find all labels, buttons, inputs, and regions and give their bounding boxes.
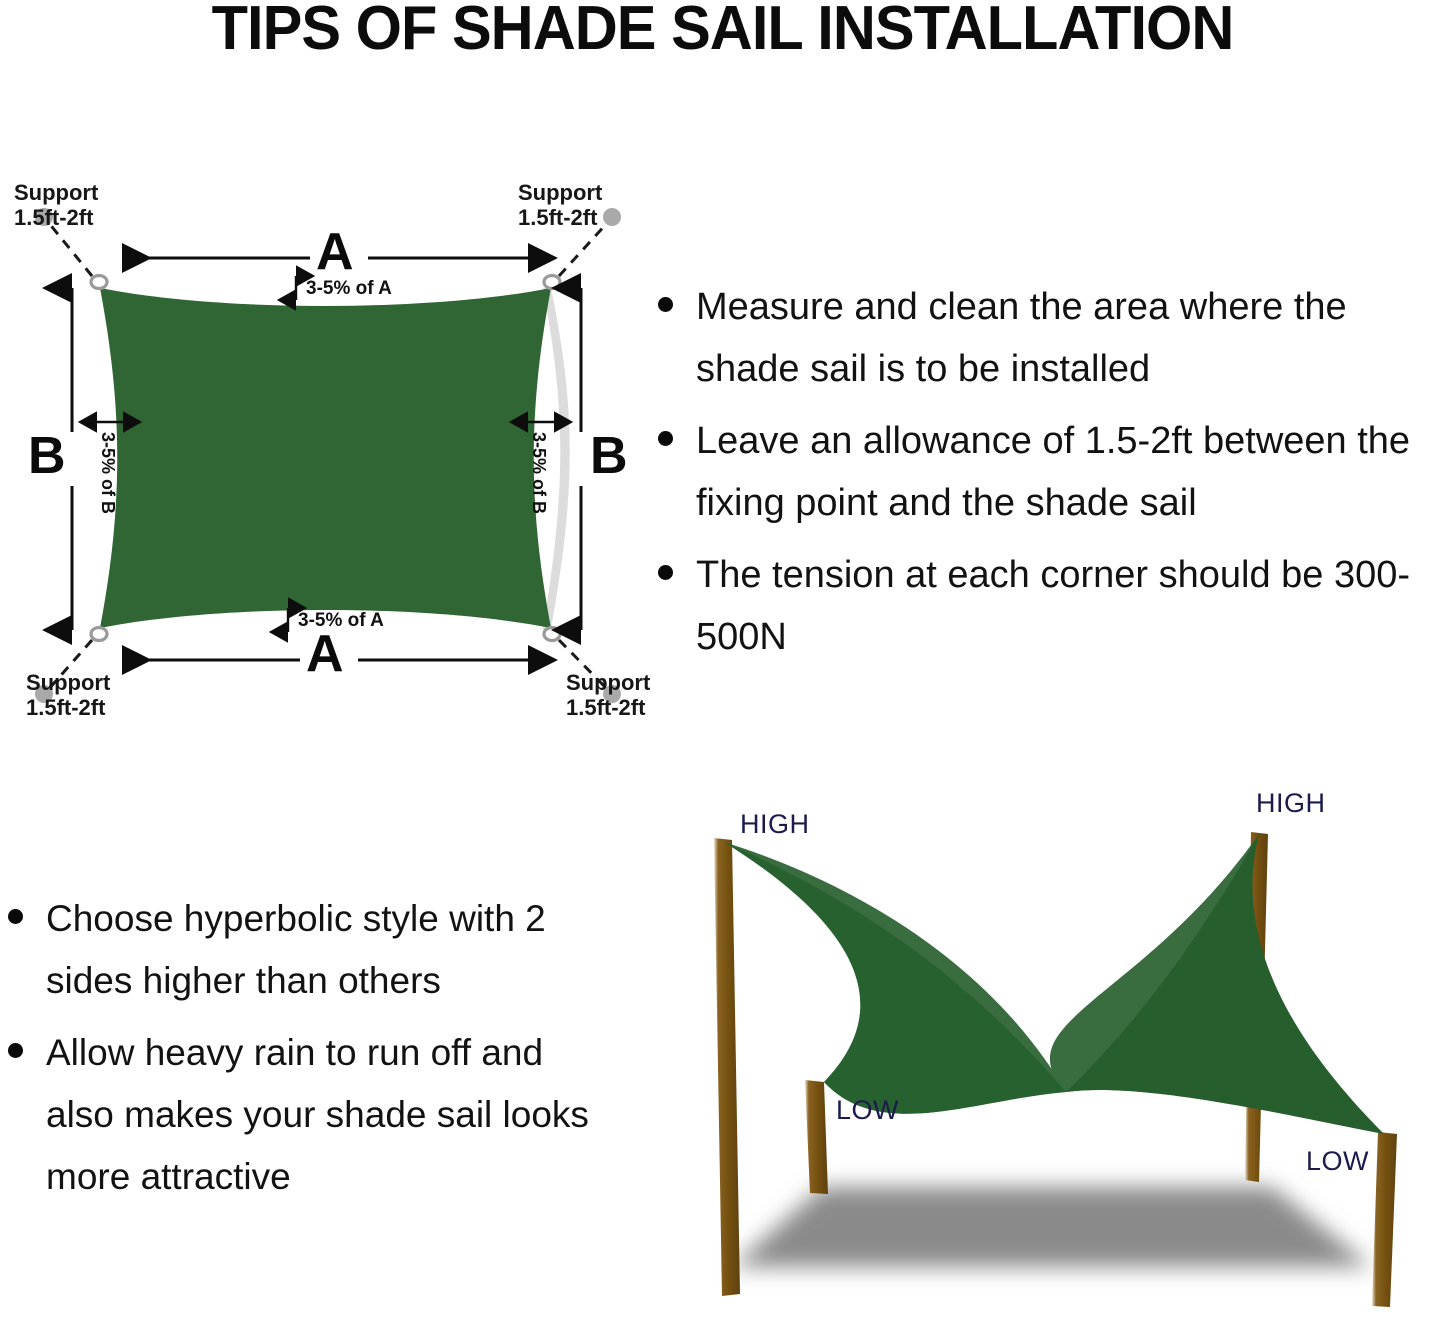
rectangular-sail-diagram: Support 1.5ft-2ft Support 1.5ft-2ft Supp…	[0, 160, 660, 730]
support-top-left-line2: 1.5ft-2ft	[14, 205, 98, 230]
bullet-dot-icon	[658, 431, 673, 446]
list-item: Allow heavy rain to run off and also mak…	[0, 1022, 620, 1208]
support-bottom-left-label: Support 1.5ft-2ft	[26, 670, 110, 720]
curve-label-left: 3-5% of B	[97, 432, 118, 514]
list-item: Measure and clean the area where the sha…	[650, 276, 1445, 400]
label-low-right: LOW	[1306, 1146, 1369, 1177]
post-high-left	[714, 838, 740, 1296]
support-bottom-right-line2: 1.5ft-2ft	[566, 695, 650, 720]
hyperbolic-sail-graphic	[672, 782, 1445, 1319]
bullet-dot-icon	[658, 565, 673, 580]
dimension-letter-a-bottom: A	[306, 628, 344, 680]
list-item: The tension at each corner should be 300…	[650, 544, 1445, 668]
bullet-text: The tension at each corner should be 300…	[696, 554, 1410, 658]
support-bottom-left-line2: 1.5ft-2ft	[26, 695, 110, 720]
ground-shadow	[732, 1187, 1372, 1267]
post-low-right	[1372, 1132, 1397, 1307]
bullet-dot-icon	[8, 1043, 23, 1058]
page-title: TIPS OF SHADE SAIL INSTALLATION	[29, 0, 1416, 60]
support-top-right-line2: 1.5ft-2ft	[518, 205, 602, 230]
curve-label-top: 3-5% of A	[306, 278, 392, 300]
installation-tips-list-top: Measure and clean the area where the sha…	[650, 276, 1445, 678]
label-high-right: HIGH	[1256, 788, 1326, 819]
support-bottom-right-line1: Support	[566, 670, 650, 695]
curve-label-right: 3-5% of B	[528, 432, 549, 514]
dimension-letter-b-right: B	[590, 430, 628, 482]
list-item: Leave an allowance of 1.5-2ft between th…	[650, 410, 1445, 534]
bullet-dot-icon	[8, 909, 23, 924]
sail-body	[100, 288, 551, 628]
bullet-text: Leave an allowance of 1.5-2ft between th…	[696, 420, 1410, 524]
support-top-right-label: Support 1.5ft-2ft	[518, 180, 602, 230]
list-item: Choose hyperbolic style with 2 sides hig…	[0, 888, 620, 1012]
installation-tips-list-bottom: Choose hyperbolic style with 2 sides hig…	[0, 888, 620, 1218]
support-bottom-left-line1: Support	[26, 670, 110, 695]
support-bottom-right-label: Support 1.5ft-2ft	[566, 670, 650, 720]
bullet-dot-icon	[658, 297, 673, 312]
hyperbolic-sail-illustration: HIGH HIGH LOW LOW	[672, 782, 1445, 1319]
dimension-letter-a-top: A	[316, 226, 354, 278]
label-low-left: LOW	[836, 1095, 899, 1126]
bullet-text: Measure and clean the area where the sha…	[696, 286, 1347, 390]
dimension-letter-b-left: B	[28, 430, 66, 482]
support-top-left-label: Support 1.5ft-2ft	[14, 180, 98, 230]
support-top-left-line1: Support	[14, 180, 98, 205]
label-high-left: HIGH	[740, 809, 810, 840]
curve-label-bottom: 3-5% of A	[298, 610, 384, 632]
bullet-text: Allow heavy rain to run off and also mak…	[46, 1032, 589, 1197]
bullet-text: Choose hyperbolic style with 2 sides hig…	[46, 898, 546, 1001]
support-top-right-line1: Support	[518, 180, 602, 205]
post-low-left	[805, 1080, 828, 1194]
